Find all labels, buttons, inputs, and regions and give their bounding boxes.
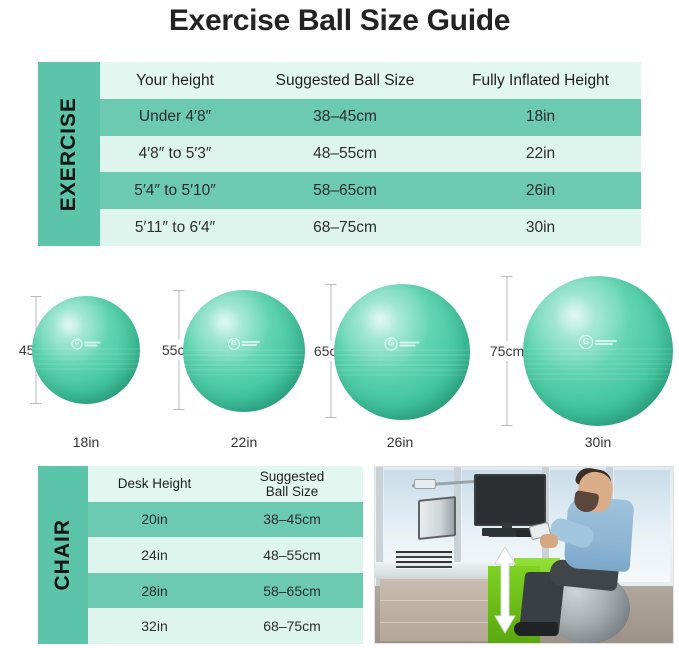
column-header-fully-inflated-height: Fully Inflated Height	[440, 72, 641, 89]
cell-desk-height: 32in	[88, 618, 221, 634]
cell-ball-size: 58–65cm	[250, 182, 440, 200]
cell-height: 5′11″ to 6′4″	[100, 219, 250, 237]
gruper-logo: G	[385, 337, 420, 350]
cell-ball-size: 68–75cm	[221, 618, 363, 634]
cell-inflated-height: 22in	[440, 145, 641, 163]
dimension-cap-bottom	[326, 417, 337, 418]
cell-inflated-height: 30in	[440, 219, 641, 237]
gruper-logo-mark: G	[228, 338, 240, 350]
cell-ball-size: 48–55cm	[221, 547, 363, 563]
table-row: 28in 58–65cm	[88, 573, 363, 609]
cell-desk-height: 20in	[88, 511, 221, 527]
table-row: 4′8″ to 5′3″ 48–55cm 22in	[100, 136, 641, 173]
table-row: 5′4″ to 5′10″ 58–65cm 26in	[100, 172, 641, 209]
gruper-wordmark	[242, 341, 260, 346]
cell-desk-height: 24in	[88, 547, 221, 563]
cell-height: 5′4″ to 5′10″	[100, 182, 250, 200]
table-row: Under 4′8″ 38–45cm 18in	[100, 99, 641, 136]
column-header-your-height: Your height	[100, 72, 250, 89]
dimension-cap-bottom	[174, 409, 185, 410]
photo-border	[374, 466, 674, 644]
gruper-logo-mark: G	[72, 338, 83, 349]
dimension-line-75cm: 75cm	[488, 276, 526, 426]
gruper-wordmark	[400, 341, 420, 346]
gruper-logo: G	[579, 335, 617, 349]
column-header-line1: Suggested	[223, 469, 361, 484]
gruper-logo-mark: G	[385, 337, 398, 350]
cell-inflated-height: 26in	[440, 182, 641, 200]
ball-caption-18in: 18in	[73, 434, 99, 450]
chair-side-label-text: CHAIR	[51, 519, 75, 591]
gruper-logo-mark: G	[579, 335, 593, 349]
column-header-desk-height: Desk Height	[88, 476, 221, 491]
exercise-table-rows: Your height Suggested Ball Size Fully In…	[100, 62, 641, 246]
exercise-side-label-text: EXERCISE	[57, 97, 81, 211]
ball-caption-22in: 22in	[231, 434, 257, 450]
ball-caption-30in: 30in	[585, 434, 611, 450]
chair-side-label: CHAIR	[38, 466, 88, 644]
cell-ball-size: 58–65cm	[221, 583, 363, 599]
exercise-ball-55cm: G	[183, 290, 305, 412]
gruper-wordmark	[595, 340, 617, 345]
table-row: 20in 38–45cm	[88, 502, 363, 538]
exercise-ball-45cm: G	[32, 296, 140, 404]
dimension-label: 75cm	[489, 341, 525, 361]
column-header-suggested-ball-size: Suggested Ball Size	[250, 72, 440, 89]
gruper-wordmark	[85, 341, 101, 346]
table-row: 5′11″ to 6′4″ 68–75cm 30in	[100, 209, 641, 246]
gruper-logo: G	[72, 338, 101, 349]
column-header-suggested-ball-size: Suggested Ball Size	[221, 469, 363, 499]
exercise-ball-75cm: G	[523, 276, 673, 426]
cell-desk-height: 28in	[88, 583, 221, 599]
table-row: 24in 48–55cm	[88, 537, 363, 573]
page-title: Exercise Ball Size Guide	[0, 2, 679, 40]
table-header-row: Desk Height Suggested Ball Size	[88, 466, 363, 502]
cell-inflated-height: 18in	[440, 108, 641, 126]
exercise-size-table: EXERCISE Your height Suggested Ball Size…	[38, 62, 641, 246]
table-header-row: Your height Suggested Ball Size Fully In…	[100, 62, 641, 99]
office-ball-chair-photo	[374, 466, 674, 644]
dimension-cap-bottom	[502, 425, 513, 426]
column-header-line2: Ball Size	[223, 484, 361, 499]
cell-ball-size: 68–75cm	[250, 219, 440, 237]
cell-height: 4′8″ to 5′3″	[100, 145, 250, 163]
cell-ball-size: 48–55cm	[250, 145, 440, 163]
gruper-logo: G	[228, 338, 260, 350]
dimension-cap-bottom	[31, 403, 42, 404]
cell-ball-size: 38–45cm	[221, 511, 363, 527]
chair-table-rows: Desk Height Suggested Ball Size 20in 38–…	[88, 466, 363, 644]
cell-ball-size: 38–45cm	[250, 108, 440, 126]
ball-caption-26in: 26in	[387, 434, 413, 450]
table-row: 32in 68–75cm	[88, 608, 363, 644]
cell-height: Under 4′8″	[100, 108, 250, 126]
chair-size-table: CHAIR Desk Height Suggested Ball Size 20…	[38, 466, 363, 644]
exercise-ball-65cm: G	[334, 284, 470, 420]
ball-size-illustrations: 45cm G 18in 55cm G 22in	[0, 262, 679, 458]
exercise-side-label: EXERCISE	[38, 62, 100, 246]
